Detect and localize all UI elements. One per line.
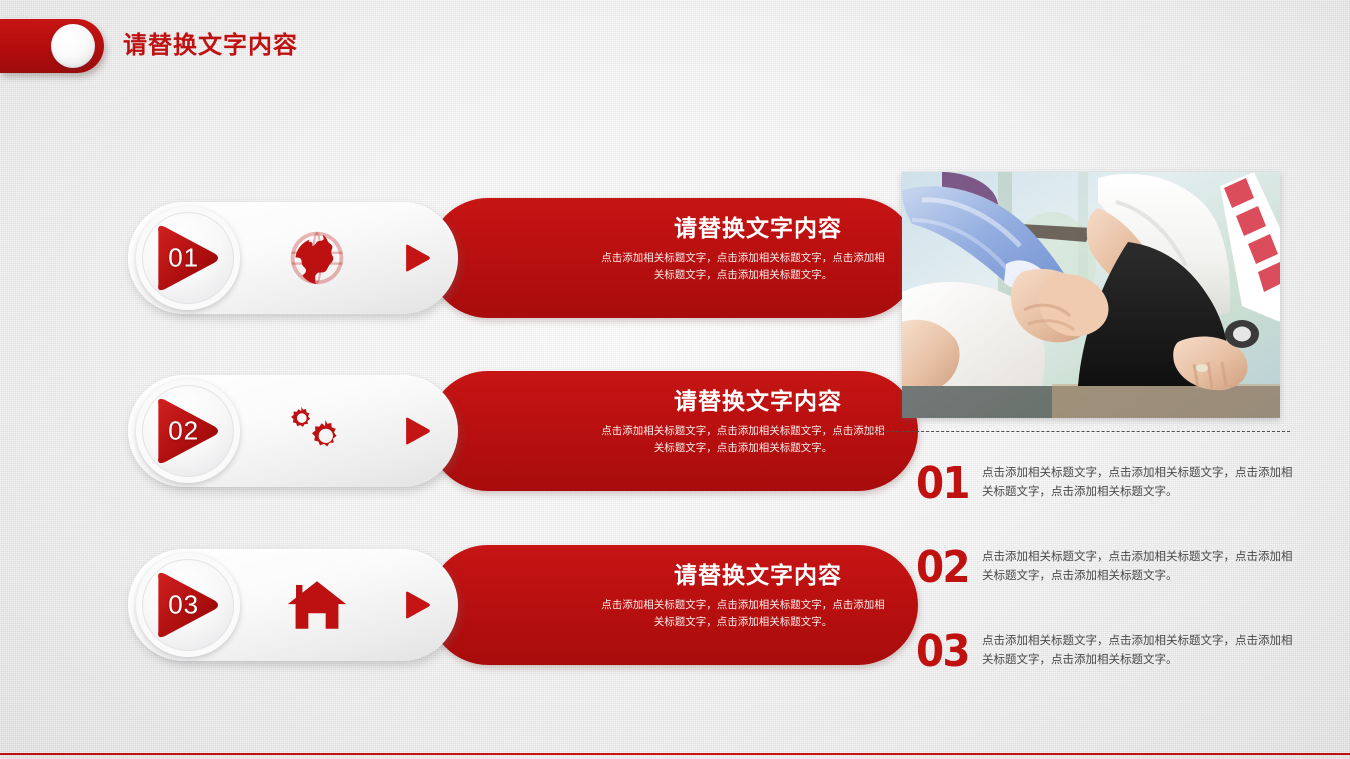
feature-red-panel: 请替换文字内容 点击添加相关标题文字，点击添加相关标题文字，点击添加相关标题文字… xyxy=(428,371,918,491)
badge-number: 02 xyxy=(168,416,199,447)
gears-icon xyxy=(278,392,356,470)
feature-white-panel: 01 xyxy=(128,202,458,314)
feature-row[interactable]: 请替换文字内容 点击添加相关标题文字，点击添加相关标题文字，点击添加相关标题文字… xyxy=(128,545,788,665)
play-arrow-icon[interactable] xyxy=(400,414,434,448)
home-icon xyxy=(278,566,356,644)
list-item-text: 点击添加相关标题文字，点击添加相关标题文字，点击添加相关标题文字，点击添加相关标… xyxy=(982,632,1294,670)
list-item-number: 02 xyxy=(916,546,975,590)
feature-title: 请替换文字内容 xyxy=(608,559,908,591)
feature-row[interactable]: 请替换文字内容 点击添加相关标题文字，点击添加相关标题文字，点击添加相关标题文字… xyxy=(128,371,788,491)
circle-knob-icon xyxy=(51,24,95,68)
page-title: 请替换文字内容 xyxy=(123,29,298,63)
globe-icon xyxy=(278,219,356,297)
list-item-number: 03 xyxy=(916,630,975,674)
feature-body: 点击添加相关标题文字，点击添加相关标题文字，点击添加相关标题文字，点击添加相关标… xyxy=(598,597,888,631)
number-badge: 02 xyxy=(136,379,240,483)
feature-row[interactable]: 请替换文字内容 点击添加相关标题文字，点击添加相关标题文字，点击添加相关标题文字… xyxy=(128,198,788,318)
number-badge: 01 xyxy=(136,206,240,310)
feature-red-panel: 请替换文字内容 点击添加相关标题文字，点击添加相关标题文字，点击添加相关标题文字… xyxy=(428,198,918,318)
list-item-text: 点击添加相关标题文字，点击添加相关标题文字，点击添加相关标题文字，点击添加相关标… xyxy=(982,548,1294,586)
header-tab-shape xyxy=(0,19,104,73)
feature-body: 点击添加相关标题文字，点击添加相关标题文字，点击添加相关标题文字，点击添加相关标… xyxy=(598,423,888,457)
play-arrow-icon[interactable] xyxy=(400,588,434,622)
business-handshake-photo xyxy=(902,172,1280,418)
list-item[interactable]: 01 点击添加相关标题文字，点击添加相关标题文字，点击添加相关标题文字，点击添加… xyxy=(916,462,1296,532)
list-item[interactable]: 03 点击添加相关标题文字，点击添加相关标题文字，点击添加相关标题文字，点击添加… xyxy=(916,630,1296,700)
list-item-text: 点击添加相关标题文字，点击添加相关标题文字，点击添加相关标题文字，点击添加相关标… xyxy=(982,464,1294,502)
number-badge: 03 xyxy=(136,553,240,657)
play-arrow-icon[interactable] xyxy=(400,241,434,275)
footer-rule xyxy=(0,753,1350,755)
feature-red-panel: 请替换文字内容 点击添加相关标题文字，点击添加相关标题文字，点击添加相关标题文字… xyxy=(428,545,918,665)
feature-body: 点击添加相关标题文字，点击添加相关标题文字，点击添加相关标题文字，点击添加相关标… xyxy=(598,250,888,284)
feature-title: 请替换文字内容 xyxy=(608,385,908,417)
list-item[interactable]: 02 点击添加相关标题文字，点击添加相关标题文字，点击添加相关标题文字，点击添加… xyxy=(916,546,1296,616)
badge-number: 03 xyxy=(168,590,199,621)
list-item-number: 01 xyxy=(916,462,975,506)
feature-white-panel: 03 xyxy=(128,549,458,661)
badge-number: 01 xyxy=(168,243,199,274)
feature-title: 请替换文字内容 xyxy=(608,212,908,244)
dashed-divider xyxy=(866,431,1290,432)
feature-white-panel: 02 xyxy=(128,375,458,487)
